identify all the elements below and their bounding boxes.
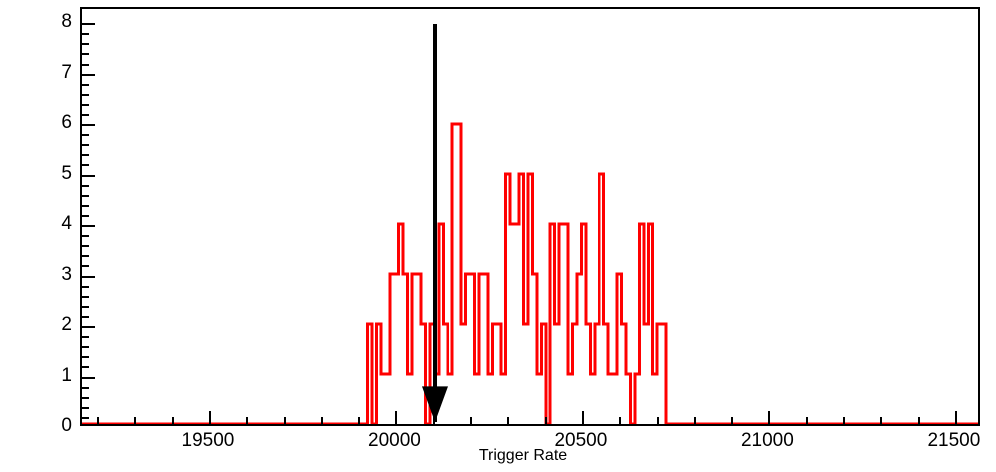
y-axis-tick-label: 6 (32, 113, 72, 132)
y-axis-tick-minor (82, 215, 89, 217)
y-axis-tick-minor (82, 366, 89, 368)
x-axis-tick-major (395, 411, 397, 424)
x-axis-tick-minor (880, 417, 882, 424)
x-axis-tick-label: 19500 (182, 430, 235, 452)
x-axis-tick-minor (321, 417, 323, 424)
plot-area (82, 9, 978, 424)
y-axis-tick-minor (82, 43, 89, 45)
y-axis-tick-minor (82, 185, 89, 187)
x-axis-tick-major (955, 411, 957, 424)
y-axis-tick-label: 1 (32, 366, 72, 385)
histogram-outline (82, 124, 978, 424)
y-axis-tick-major (82, 326, 95, 328)
x-axis-tick-minor (172, 417, 174, 424)
y-axis-tick-minor (82, 316, 89, 318)
y-axis-tick-minor (82, 94, 89, 96)
y-axis-tick-label: 7 (32, 63, 72, 82)
y-axis-tick-minor (82, 104, 89, 106)
x-axis-tick-major (768, 411, 770, 424)
histogram-series (82, 9, 978, 424)
y-axis-tick-minor (82, 255, 89, 257)
y-axis-tick-minor (82, 245, 89, 247)
y-axis-tick-major (82, 276, 95, 278)
x-axis-tick-major (209, 411, 211, 424)
y-axis-tick-minor (82, 296, 89, 298)
y-axis-tick-minor (82, 336, 89, 338)
y-axis-tick-label: 0 (32, 416, 72, 435)
y-axis-tick-minor (82, 387, 89, 389)
y-axis-tick-minor (82, 407, 89, 409)
y-axis-tick-minor (82, 33, 89, 35)
y-axis-tick-minor (82, 53, 89, 55)
x-axis-tick-minor (731, 417, 733, 424)
x-axis-tick-minor (97, 417, 99, 424)
y-axis-tick-major (82, 74, 95, 76)
y-axis-tick-minor (82, 114, 89, 116)
y-axis-tick-label: 8 (32, 12, 72, 31)
y-axis-tick-minor (82, 356, 89, 358)
y-axis-tick-minor (82, 306, 89, 308)
x-axis-tick-minor (619, 417, 621, 424)
chart-canvas: Current: 20103.84 Hz 012345678 195002000… (0, 0, 996, 472)
y-axis-tick-minor (82, 164, 89, 166)
y-axis-tick-minor (82, 195, 89, 197)
x-axis-tick-minor (284, 417, 286, 424)
y-axis-tick-minor (82, 265, 89, 267)
y-axis-tick-minor (82, 346, 89, 348)
y-axis-tick-minor (82, 286, 89, 288)
y-axis-tick-minor (82, 235, 89, 237)
y-axis-tick-minor (82, 84, 89, 86)
y-axis-tick-label: 3 (32, 265, 72, 284)
x-axis-tick-minor (843, 417, 845, 424)
x-axis-tick-minor (358, 417, 360, 424)
x-axis-tick-minor (918, 417, 920, 424)
x-axis-tick-minor (507, 417, 509, 424)
x-axis-tick-minor (134, 417, 136, 424)
x-axis-tick-minor (545, 417, 547, 424)
y-axis-tick-minor (82, 64, 89, 66)
y-axis-tick-minor (82, 144, 89, 146)
x-axis-tick-minor (806, 417, 808, 424)
y-axis-tick-label: 5 (32, 164, 72, 183)
x-axis-tick-minor (246, 417, 248, 424)
y-axis-tick-major (82, 175, 95, 177)
x-axis-tick-major (582, 411, 584, 424)
y-axis-tick-minor (82, 397, 89, 399)
y-axis-tick-label: 4 (32, 214, 72, 233)
x-axis-tick-label: 21000 (741, 430, 794, 452)
y-axis-tick-minor (82, 134, 89, 136)
y-axis-tick-major (82, 23, 95, 25)
x-axis-tick-minor (694, 417, 696, 424)
y-axis-tick-minor (82, 417, 89, 419)
x-axis-tick-label: 21500 (927, 430, 980, 452)
x-axis-tick-label: 20000 (368, 430, 421, 452)
y-axis-tick-minor (82, 205, 89, 207)
y-axis-tick-major (82, 124, 95, 126)
x-axis-title: Trigger Rate (479, 447, 567, 465)
y-axis-tick-major (82, 225, 95, 227)
x-axis-tick-minor (470, 417, 472, 424)
y-axis-tick-major (82, 377, 95, 379)
x-axis-tick-minor (433, 417, 435, 424)
y-axis-tick-minor (82, 154, 89, 156)
plot-frame (80, 7, 980, 426)
y-axis-tick-label: 2 (32, 315, 72, 334)
x-axis-tick-minor (657, 417, 659, 424)
